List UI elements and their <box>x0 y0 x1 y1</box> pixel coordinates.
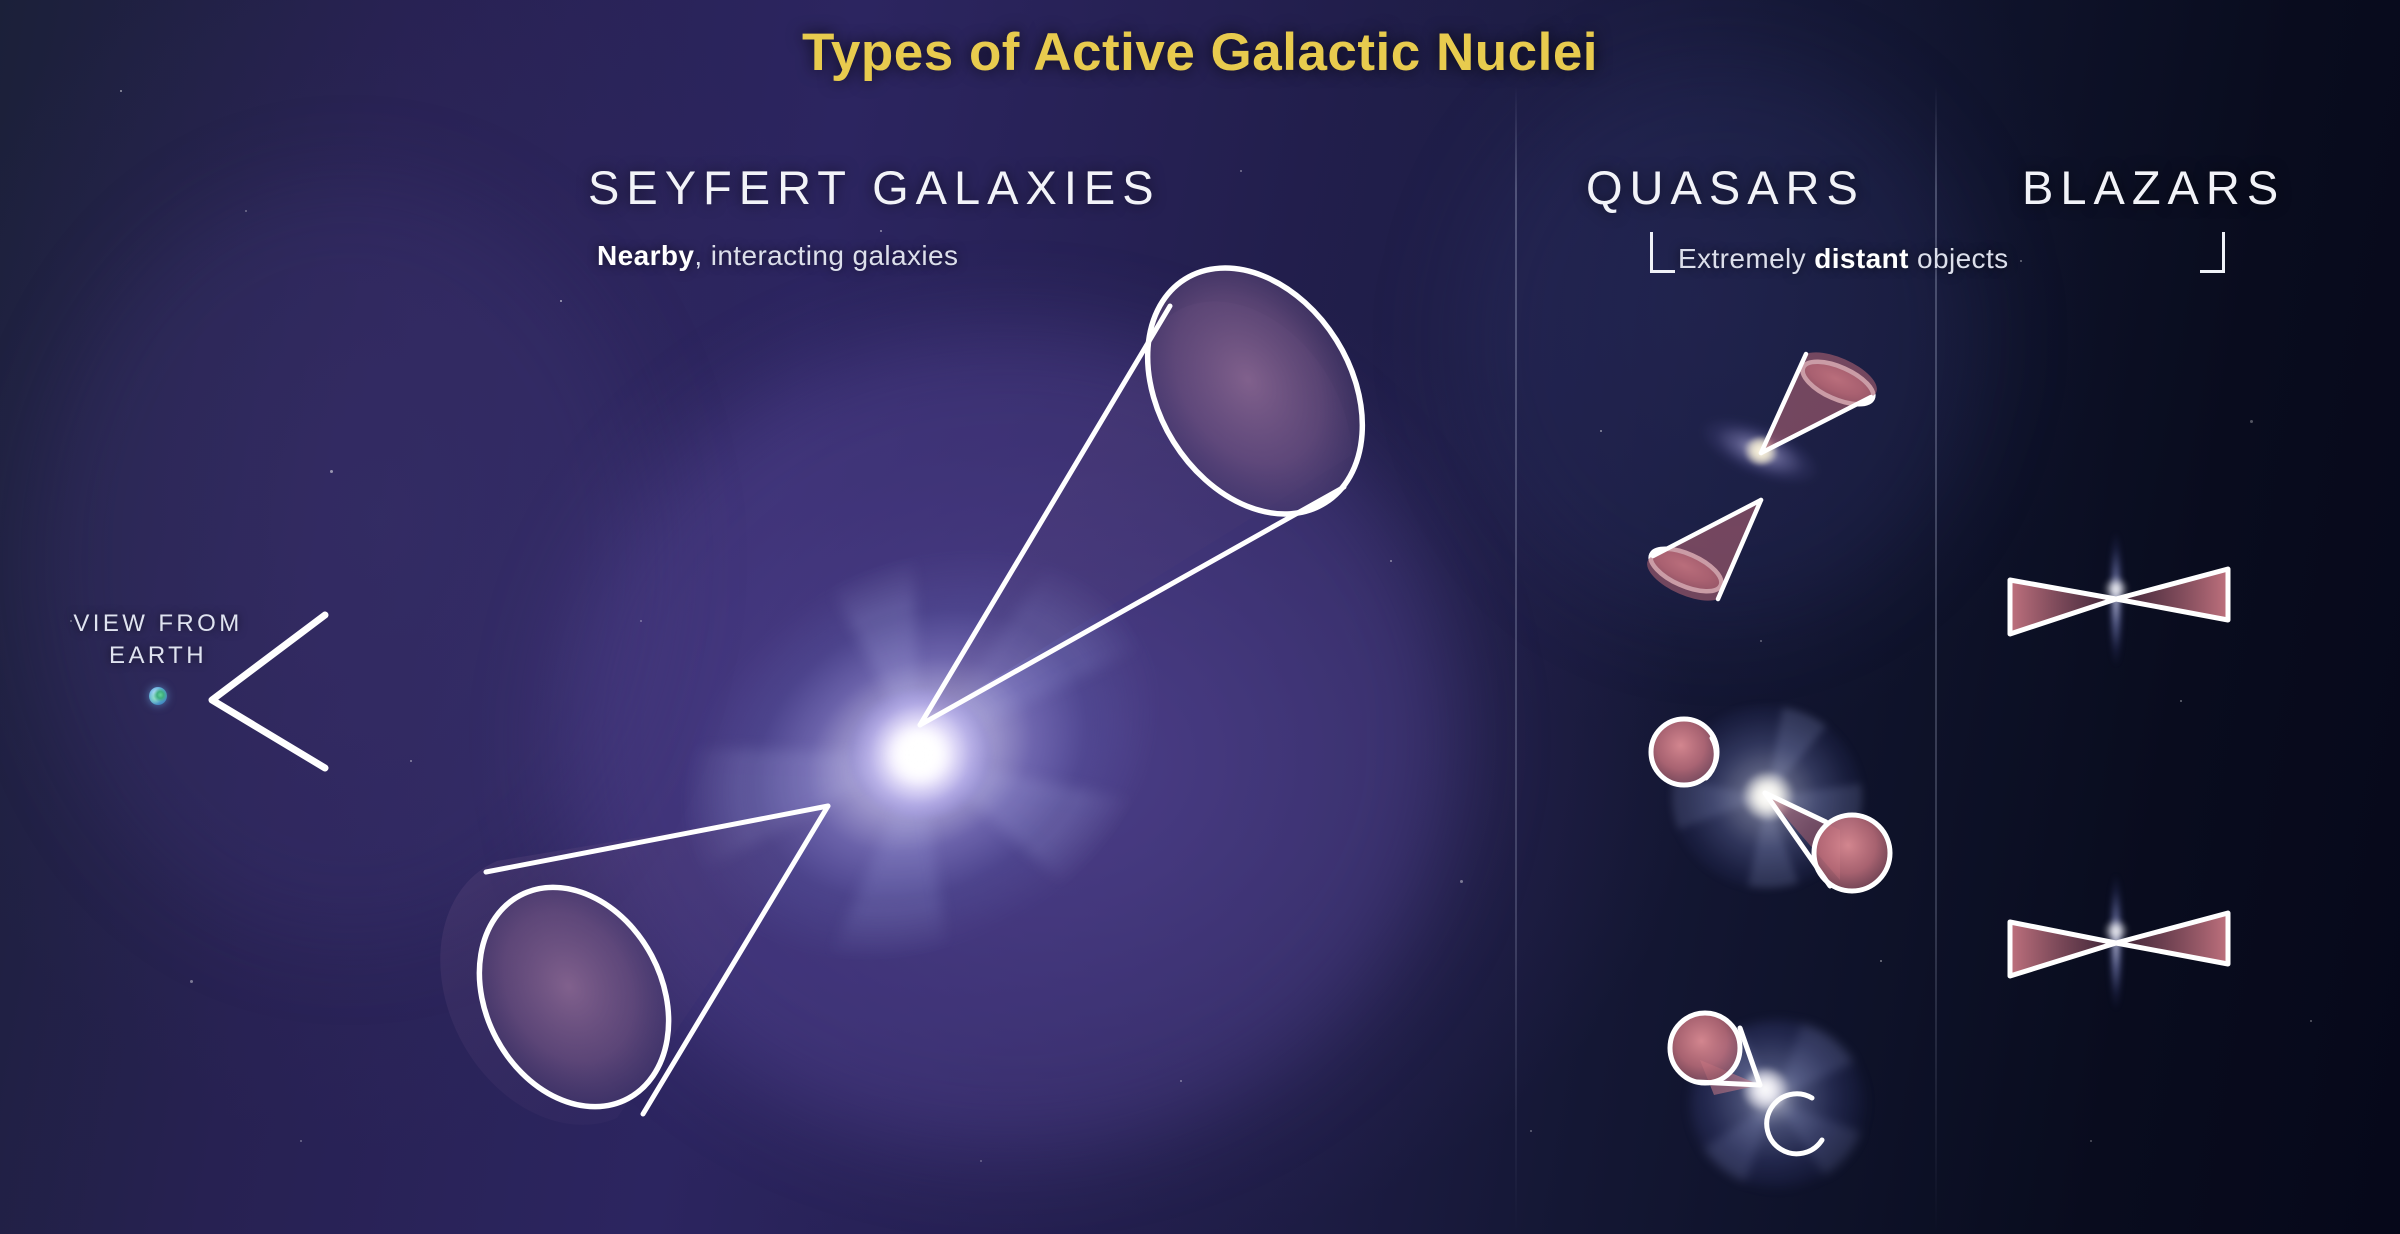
blazar-1-cone-left <box>2010 580 2116 634</box>
blazar-2-cone-left <box>2010 922 2116 976</box>
cone-overlay-layer <box>0 0 2400 1234</box>
quasar-1-cone-upper <box>1761 352 1879 453</box>
blazar-2-cone-right <box>2116 913 2228 964</box>
quasar-1-cone-lower <box>1645 500 1761 601</box>
infographic-canvas: Types of Active Galactic Nuclei SEYFERT … <box>0 0 2400 1234</box>
quasar-2-cone-far <box>1651 719 1717 785</box>
seyfert-cone-lower <box>440 806 828 1140</box>
view-cone-chevron-icon <box>212 615 325 768</box>
seyfert-cone-upper <box>920 228 1406 725</box>
blazar-2-bowtie <box>2010 913 2228 976</box>
blazar-1-cone-right <box>2116 569 2228 620</box>
blazar-1-bowtie <box>2010 569 2228 634</box>
quasar-2-cone-near <box>1765 793 1890 891</box>
quasar-3-cone-occluded <box>1767 1094 1822 1154</box>
quasar-3-cone-visible <box>1670 1013 1760 1095</box>
